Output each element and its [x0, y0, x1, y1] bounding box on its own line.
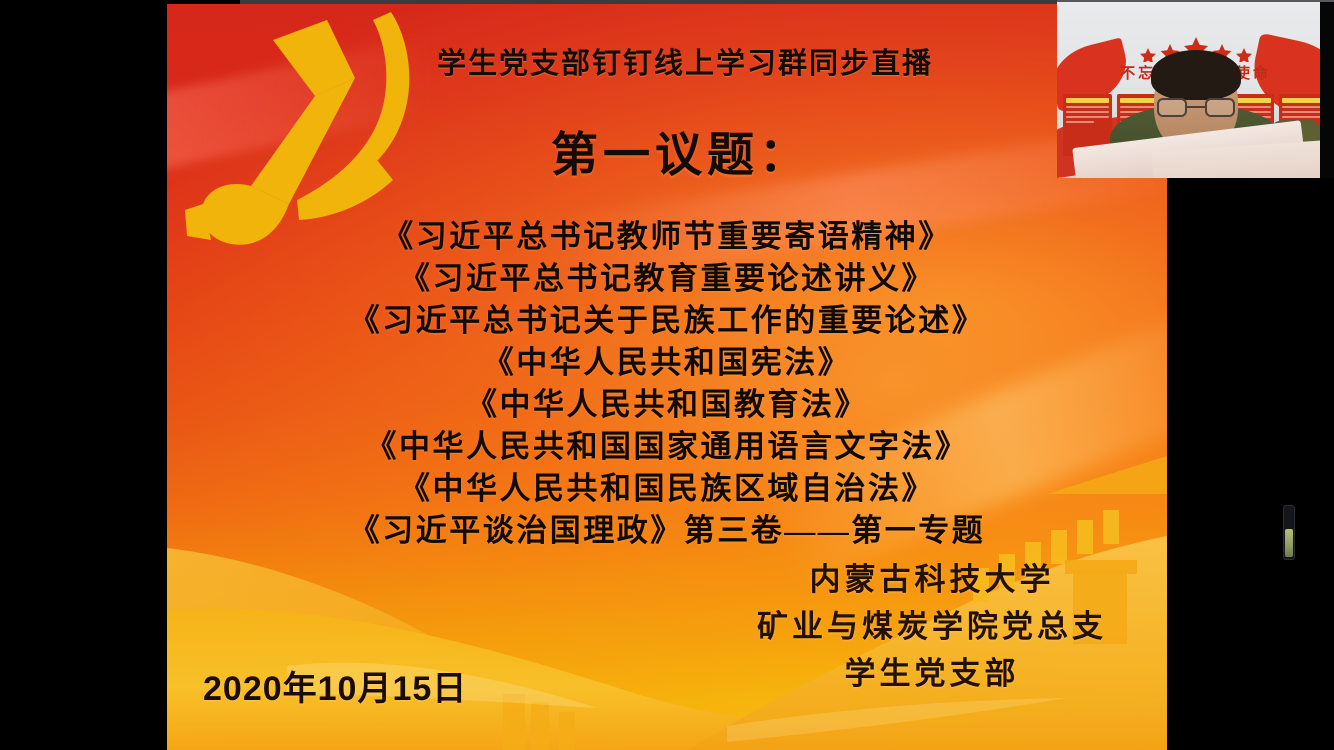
organization-line: 学生党支部 — [757, 650, 1107, 697]
presenter-video-tile[interactable]: 不忘初心 牢记使命 — [1057, 0, 1334, 178]
video-tile-right-mask — [1320, 2, 1334, 178]
document-list-item: 《习近平总书记教育重要论述讲义》 — [167, 258, 1167, 300]
document-list-item: 《习近平谈治国理政》第三卷——第一专题 — [167, 510, 1167, 552]
document-list-item: 《中华人民共和国宪法》 — [167, 342, 1167, 384]
volume-level-indicator[interactable] — [1283, 505, 1295, 560]
document-list-item: 《中华人民共和国教育法》 — [167, 384, 1167, 426]
document-list-item: 《习近平总书记关于民族工作的重要论述》 — [167, 300, 1167, 342]
slide-heading: 第一议题： — [167, 116, 1167, 185]
organization-line: 内蒙古科技大学 — [757, 556, 1107, 603]
presentation-slide[interactable]: 学生党支部钉钉线上学习群同步直播 第一议题： 《习近平总书记教师节重要寄语精神》… — [167, 4, 1167, 750]
volume-level-fill — [1285, 529, 1293, 557]
organization-block: 内蒙古科技大学 矿业与煤炭学院党总支 学生党支部 — [757, 556, 1107, 697]
slide-banner-title: 学生党支部钉钉线上学习群同步直播 — [167, 40, 1167, 82]
screen-root: 学生党支部钉钉线上学习群同步直播 第一议题： 《习近平总书记教师节重要寄语精神》… — [0, 0, 1334, 750]
slide-date: 2020年10月15日 — [203, 661, 467, 710]
document-list-item: 《中华人民共和国民族区域自治法》 — [167, 468, 1167, 510]
organization-line: 矿业与煤炭学院党总支 — [757, 603, 1107, 650]
document-list: 《习近平总书记教师节重要寄语精神》 《习近平总书记教育重要论述讲义》 《习近平总… — [167, 216, 1167, 552]
document-list-item: 《中华人民共和国国家通用语言文字法》 — [167, 426, 1167, 468]
document-list-item: 《习近平总书记教师节重要寄语精神》 — [167, 216, 1167, 258]
presenter-glasses-icon — [1157, 98, 1235, 118]
presenter-hair — [1151, 50, 1241, 100]
